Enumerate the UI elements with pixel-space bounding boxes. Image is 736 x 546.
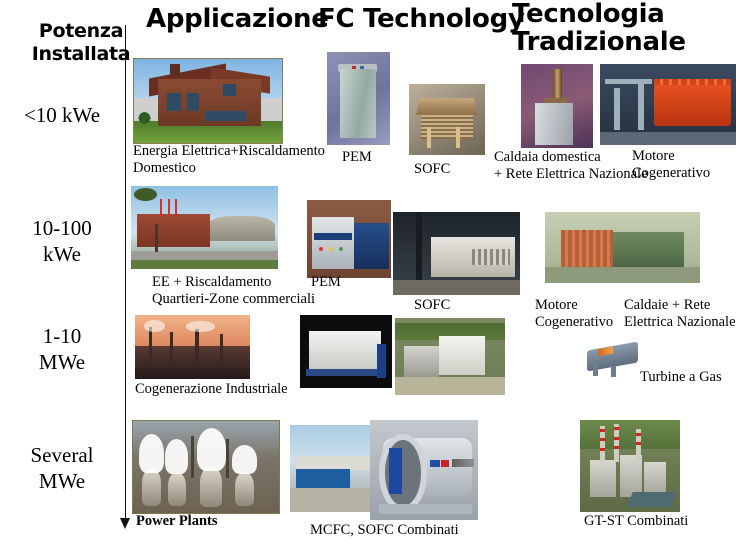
red-cogeneration-engine-photo: [600, 64, 736, 145]
row-label-10-100-kwe: 10-100 kWe: [4, 216, 120, 267]
sofc-outdoor-plant-photo: [395, 318, 505, 395]
slide-canvas: Potenza Installata Applicazione FC Techn…: [0, 0, 736, 546]
house-photo: [133, 58, 283, 144]
caption-sofc-row1: SOFC: [414, 161, 450, 178]
sofc-stack-photo: [409, 84, 485, 155]
row-label-several-mwe: Several MWe: [4, 443, 120, 494]
mcfc-white-module-photo: [300, 315, 392, 388]
caption-power-plants: Power Plants: [136, 513, 218, 530]
combined-cycle-plant-photo: [580, 420, 680, 512]
power-axis-line: [125, 25, 126, 522]
power-axis-arrowhead: [120, 518, 130, 529]
caption-pem-row2: PEM: [311, 274, 341, 291]
hot-module-photo: [370, 420, 478, 520]
caption-cogenerazione-industriale: Cogenerazione Industriale: [135, 381, 288, 398]
caption-energia-elettrica-riscaldamento-domestico: Energia Elettrica+Riscaldamento Domestic…: [133, 143, 333, 177]
caption-turbine-a-gas: Turbine a Gas: [640, 369, 722, 386]
caption-sofc-row2: SOFC: [414, 297, 450, 314]
column-header-fc-technology: FC Technology: [318, 6, 525, 34]
caption-caldaie-rete-elettrica-nazionale: Caldaie + Rete Elettrica Nazionale: [624, 297, 736, 331]
green-cogeneration-engine-photo: [545, 212, 700, 283]
caption-caldaia-domestica-rete-elettrica-nazionale: Caldaia domestica + Rete Elettrica Nazio…: [494, 149, 654, 183]
industrial-plant-sunset-photo: [135, 315, 250, 379]
row-label-lt-10-kwe: <10 kWe: [4, 103, 120, 129]
row-label-1-10-mwe: 1-10 MWe: [4, 324, 120, 375]
domestic-boiler-photo: [521, 64, 593, 148]
caption-gt-st-combinati: GT-ST Combinati: [584, 513, 688, 530]
caption-motore-cogenerativo-row1: Motore Cogenerativo: [632, 148, 710, 182]
cooling-towers-photo: [132, 420, 280, 514]
pem-cabinet-photo: [327, 52, 390, 145]
column-header-applicazione: Applicazione: [146, 6, 329, 34]
pem-skid-unit-photo: [307, 200, 391, 278]
gas-turbine-photo: [585, 336, 642, 383]
caption-motore-cogenerativo-row2: Motore Cogenerativo: [535, 297, 613, 331]
column-header-tecnologia-tradizionale: Tecnologia Tradizionale: [512, 1, 686, 56]
caption-mcfc-sofc-combinati: MCFC, SOFC Combinati: [310, 522, 459, 539]
sofc-container-photo: [393, 212, 520, 295]
caption-pem-row1: PEM: [342, 149, 372, 166]
commercial-building-photo: [131, 186, 278, 269]
potenza-installata-label: Potenza Installata: [26, 20, 136, 66]
